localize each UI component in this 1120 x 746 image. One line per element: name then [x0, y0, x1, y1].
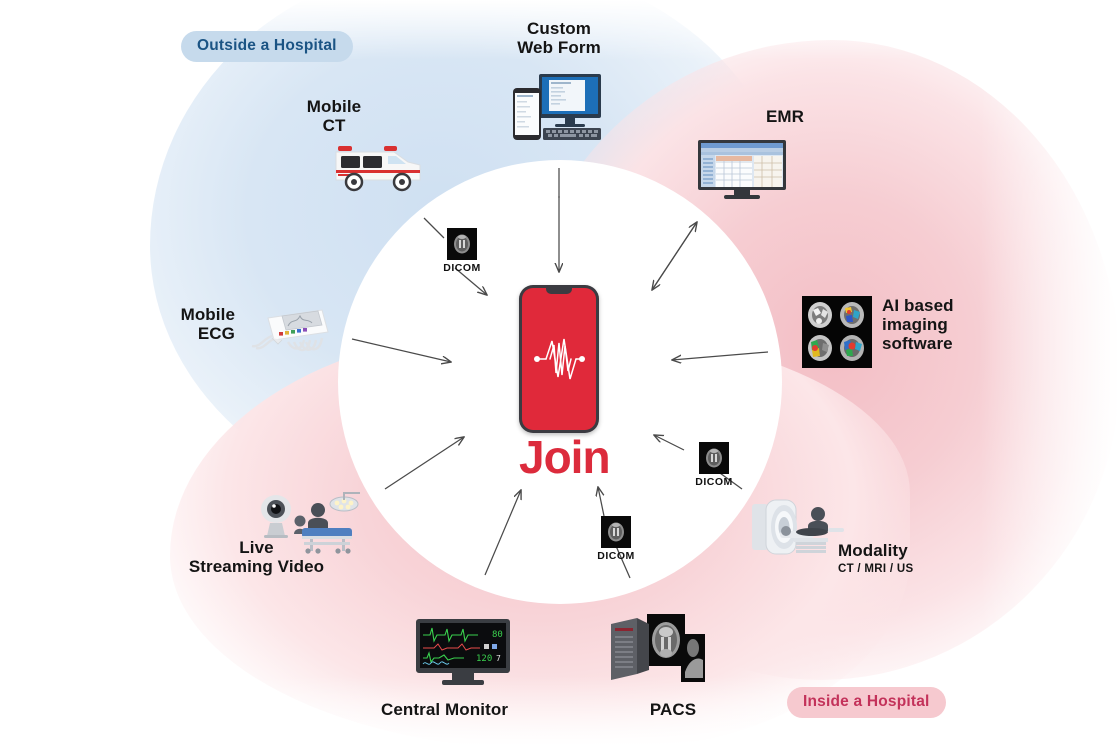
icon-modality	[750, 498, 850, 565]
label-mobile-ct: Mobile CT	[279, 97, 389, 135]
label-line1: AI based	[882, 296, 1032, 315]
ambulance-icon	[332, 140, 428, 196]
phone-notch	[546, 288, 572, 294]
dicom-chip-bottom-right: DICOM	[684, 442, 744, 488]
waveform-icon	[528, 329, 590, 389]
icon-mobile-ecg	[238, 296, 334, 365]
server-and-scans-icon	[607, 612, 705, 688]
label-line1: Custom	[479, 19, 639, 38]
label-modality: Modality CT / MRI / US	[838, 541, 978, 576]
label-line2: Streaming Video	[174, 557, 339, 576]
ecg-device-icon	[238, 296, 334, 360]
dicom-chip-bottom: DICOM	[586, 516, 646, 562]
label-line2: imaging	[882, 315, 1032, 334]
emr-monitor-icon	[696, 138, 788, 200]
label-ai-imaging: AI based imaging software	[882, 296, 1032, 353]
icon-live-streaming-video	[258, 490, 370, 559]
label-mobile-ecg: Mobile ECG	[140, 305, 235, 343]
ct-scanner-icon	[750, 498, 850, 560]
label-line1: PACS	[618, 700, 728, 719]
icon-emr	[696, 138, 788, 205]
brain-scan-thumbnail-icon	[601, 516, 631, 548]
label-line1: EMR	[710, 107, 860, 126]
brain-scan-thumbnail-icon	[699, 442, 729, 474]
join-app-screen	[522, 288, 596, 430]
join-app-phone	[519, 285, 599, 433]
label-central-monitor: Central Monitor	[362, 700, 527, 719]
label-modality-sub: CT / MRI / US	[838, 563, 978, 576]
label-line3: software	[882, 334, 1032, 353]
svg-text:80: 80	[492, 630, 503, 640]
icon-custom-web-form	[505, 72, 605, 149]
vitals-monitor-icon: 80 120 7	[414, 617, 512, 689]
dicom-label: DICOM	[586, 550, 646, 562]
icon-central-monitor: 80 120 7	[414, 617, 512, 694]
dicom-chip-top-left: DICOM	[432, 228, 492, 274]
dicom-label: DICOM	[684, 476, 744, 488]
brain-scan-grid-icon	[802, 296, 872, 368]
webcam-operating-room-icon	[258, 490, 370, 554]
badge-inside-a-hospital: Inside a Hospital	[787, 687, 946, 718]
dicom-label: DICOM	[432, 262, 492, 274]
label-emr: EMR	[710, 107, 860, 126]
icon-pacs	[607, 612, 705, 693]
desktop-and-phone-form-icon	[505, 72, 605, 144]
label-line1: Central Monitor	[362, 700, 527, 719]
icon-mobile-ct	[332, 140, 428, 201]
join-wordmark: Join	[519, 430, 599, 484]
svg-text:7: 7	[496, 654, 501, 663]
label-line1: Mobile	[279, 97, 389, 116]
label-pacs: PACS	[618, 700, 728, 719]
label-line2: CT	[279, 116, 389, 135]
label-custom-web-form: Custom Web Form	[479, 19, 639, 57]
badge-inside-label: Inside a Hospital	[803, 693, 930, 710]
icon-ai-imaging	[802, 296, 872, 373]
brain-scan-thumbnail-icon	[447, 228, 477, 260]
label-line2: ECG	[140, 324, 235, 343]
badge-outside-a-hospital: Outside a Hospital	[181, 31, 353, 62]
label-line2: Web Form	[479, 38, 639, 57]
label-line1: Mobile	[140, 305, 235, 324]
svg-text:120: 120	[476, 654, 492, 664]
label-line1: Modality	[838, 541, 978, 560]
diagram-canvas: Outside a Hospital Inside a Hospital Joi…	[0, 0, 1120, 746]
badge-outside-label: Outside a Hospital	[197, 37, 337, 54]
